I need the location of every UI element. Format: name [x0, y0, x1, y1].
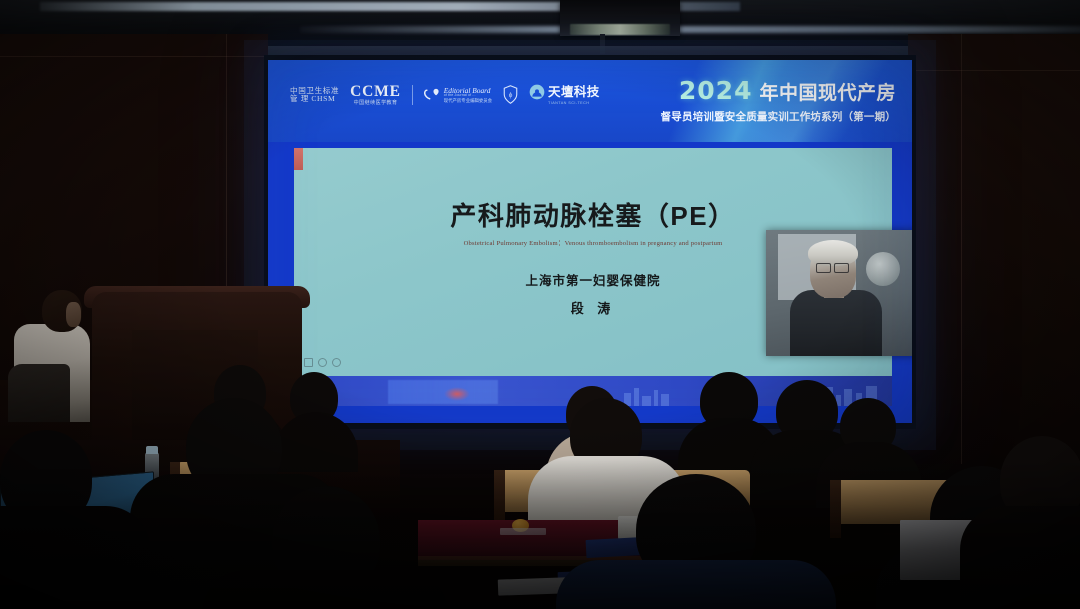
ccme-logo-sub: 中国继续医学教育 — [354, 101, 398, 106]
glasses-icon — [816, 263, 849, 271]
water-bottle-cap-left — [146, 446, 158, 454]
projection-screen: 中国卫生标准 管 理 CHSM CCME 中国继续医学教育 — [268, 60, 912, 423]
chsm-logo: 中国卫生标准 管 理 CHSM — [290, 87, 339, 103]
projector-lens — [570, 24, 670, 35]
slide-icon-circle-1[interactable] — [318, 358, 327, 367]
slide-control-icons[interactable] — [304, 358, 341, 367]
screenshot-root: 中国卫生标准 管 理 CHSM CCME 中国继续医学教育 — [0, 0, 1080, 609]
logo-divider — [412, 85, 413, 105]
speaker-video-inset[interactable] — [766, 230, 912, 356]
footer-accent-glow — [444, 387, 470, 401]
standing-person — [14, 290, 96, 420]
event-subtitle: 督导员培训暨安全质量实训工作坊系列（第一期） — [661, 109, 896, 124]
shield-logo: ϕ — [503, 85, 518, 104]
tianyuan-logo-cn: 天壇科技 — [548, 86, 600, 99]
slide-header-band: 中国卫生标准 管 理 CHSM CCME 中国继续医学教育 — [268, 60, 912, 142]
projection-screen-frame: 中国卫生标准 管 理 CHSM CCME 中国继续医学教育 — [264, 55, 916, 429]
chsm-logo-line2: 管 理 CHSM — [290, 95, 335, 103]
event-title: 年中国现代产房 — [759, 78, 896, 105]
standing-person-face — [66, 302, 81, 327]
plate — [500, 528, 546, 535]
svg-text:ϕ: ϕ — [509, 92, 513, 99]
standing-person-bag — [8, 364, 70, 422]
arch-mark-icon — [529, 84, 545, 100]
accent-marker — [294, 148, 303, 170]
ccme-logo-main: CCME — [350, 84, 401, 100]
tianyuan-logo-en: TIANTAN SCI-TECH — [548, 102, 589, 106]
editorial-board-logo: Editorial Board of the Journal of ... 现代… — [424, 86, 492, 103]
event-year: 2024 — [679, 76, 753, 105]
ceiling-light-strip-right — [300, 26, 1080, 33]
ccme-logo: CCME 中国继续医学教育 — [350, 84, 401, 106]
wall-right-panel — [908, 34, 1080, 464]
shield-icon: ϕ — [503, 85, 518, 104]
tianyuan-logo: 天壇科技 TIANTAN SCI-TECH — [529, 84, 600, 105]
slide-icon-circle-2[interactable] — [332, 358, 341, 367]
editorial-board-sub-cn: 现代产房专业编辑委员会 — [444, 99, 492, 104]
video-background-object — [866, 252, 900, 286]
chair-post-4 — [830, 480, 841, 538]
heart-stethoscope-icon — [424, 86, 441, 103]
slide-icon-square[interactable] — [304, 358, 313, 367]
slide-title: 产科肺动脉栓塞（PE） — [294, 196, 892, 233]
footer-badge — [388, 380, 498, 404]
speaker-torso — [790, 290, 882, 356]
sponsor-logo-row: 中国卫生标准 管 理 CHSM CCME 中国继续医学教育 — [290, 84, 600, 106]
event-title-block: 2024 年中国现代产房 督导员培训暨安全质量实训工作坊系列（第一期） — [661, 76, 896, 124]
